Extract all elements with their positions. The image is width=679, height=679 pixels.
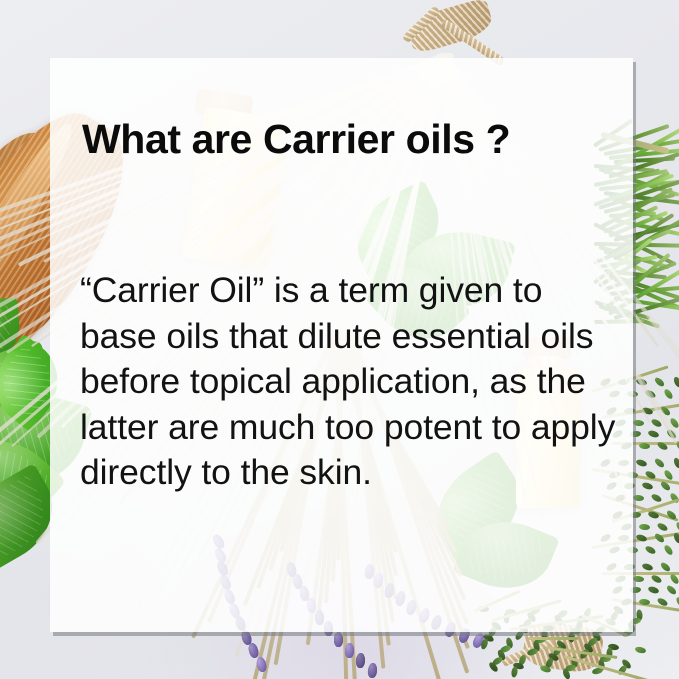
thyme-leaf <box>634 646 646 654</box>
thyme-leaf <box>663 544 674 556</box>
thyme-leaf <box>665 584 677 596</box>
infographic-canvas: What are Carrier oils ? “Carrier Oil” is… <box>0 0 679 679</box>
lavender-bud <box>334 632 343 647</box>
thyme-leaf <box>663 388 674 400</box>
lavender-bud <box>344 643 354 658</box>
thyme-stem <box>528 637 578 640</box>
thyme-leaf <box>673 532 679 544</box>
lavender-bud <box>367 663 378 679</box>
thyme-leaf <box>480 638 489 650</box>
thyme-leaf <box>526 647 538 656</box>
body-paragraph: “Carrier Oil” is a term given to base oi… <box>80 268 620 496</box>
thyme-leaf <box>675 596 679 608</box>
page-title: What are Carrier oils ? <box>82 118 612 161</box>
lavender-bud <box>355 653 365 669</box>
thyme-leaf <box>673 376 679 388</box>
thyme-leaf <box>511 666 519 678</box>
thyme-leaf <box>673 457 679 469</box>
